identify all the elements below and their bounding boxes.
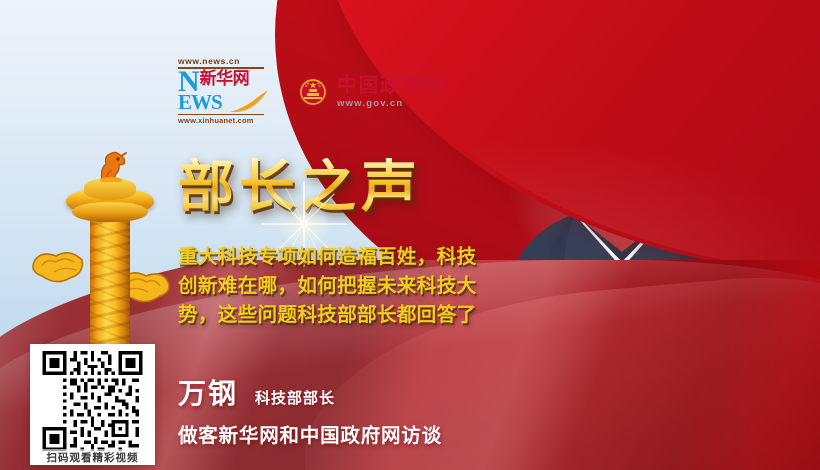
guest-info: 万钢 科技部部长 做客新华网和中国政府网访谈 xyxy=(178,372,442,448)
gov-url: www.gov.cn xyxy=(337,98,445,109)
national-emblem-icon xyxy=(298,77,328,107)
qr-code-icon[interactable]: 扫码观看精彩视频 xyxy=(30,344,155,465)
gov-text-block: 中国政府网 www.gov.cn xyxy=(337,76,445,109)
mythical-beast-icon xyxy=(94,150,130,182)
xinhua-rule-bottom xyxy=(178,114,264,115)
description-text: 重大科技专项如何造福百姓，科技创新难在哪，如何把握未来科技大势，这些问题科技部部… xyxy=(178,243,478,330)
qr-matrix xyxy=(38,351,147,451)
guest-subtitle: 做客新华网和中国政府网访谈 xyxy=(178,419,442,448)
guest-name: 万钢 xyxy=(178,372,238,412)
xinhua-bottom-url: www.xinhuanet.com xyxy=(178,116,254,125)
logo-row: www.news.cn N 新华网 EWS www.xinhuanet.com xyxy=(176,56,445,128)
guest-position: 科技部部长 xyxy=(255,387,335,408)
xinhua-word-ews: EWS xyxy=(178,92,222,113)
guest-name-row: 万钢 科技部部长 xyxy=(178,372,442,412)
page-title: 部长之声 xyxy=(178,158,422,216)
gov-logo[interactable]: 中国政府网 www.gov.cn xyxy=(298,76,445,109)
huabiao-disc-lower xyxy=(72,202,148,222)
poster-root: www.news.cn N 新华网 EWS www.xinhuanet.com xyxy=(0,0,820,470)
gov-cn-name: 中国政府网 xyxy=(337,76,445,97)
xinhua-logo[interactable]: www.news.cn N 新华网 EWS www.xinhuanet.com xyxy=(176,56,274,128)
cloud-board-icon xyxy=(30,246,84,286)
title-text: 部长之声 xyxy=(178,158,422,216)
qr-caption: 扫码观看精彩视频 xyxy=(30,449,155,465)
xinhua-cn-name: 新华网 xyxy=(200,69,250,88)
